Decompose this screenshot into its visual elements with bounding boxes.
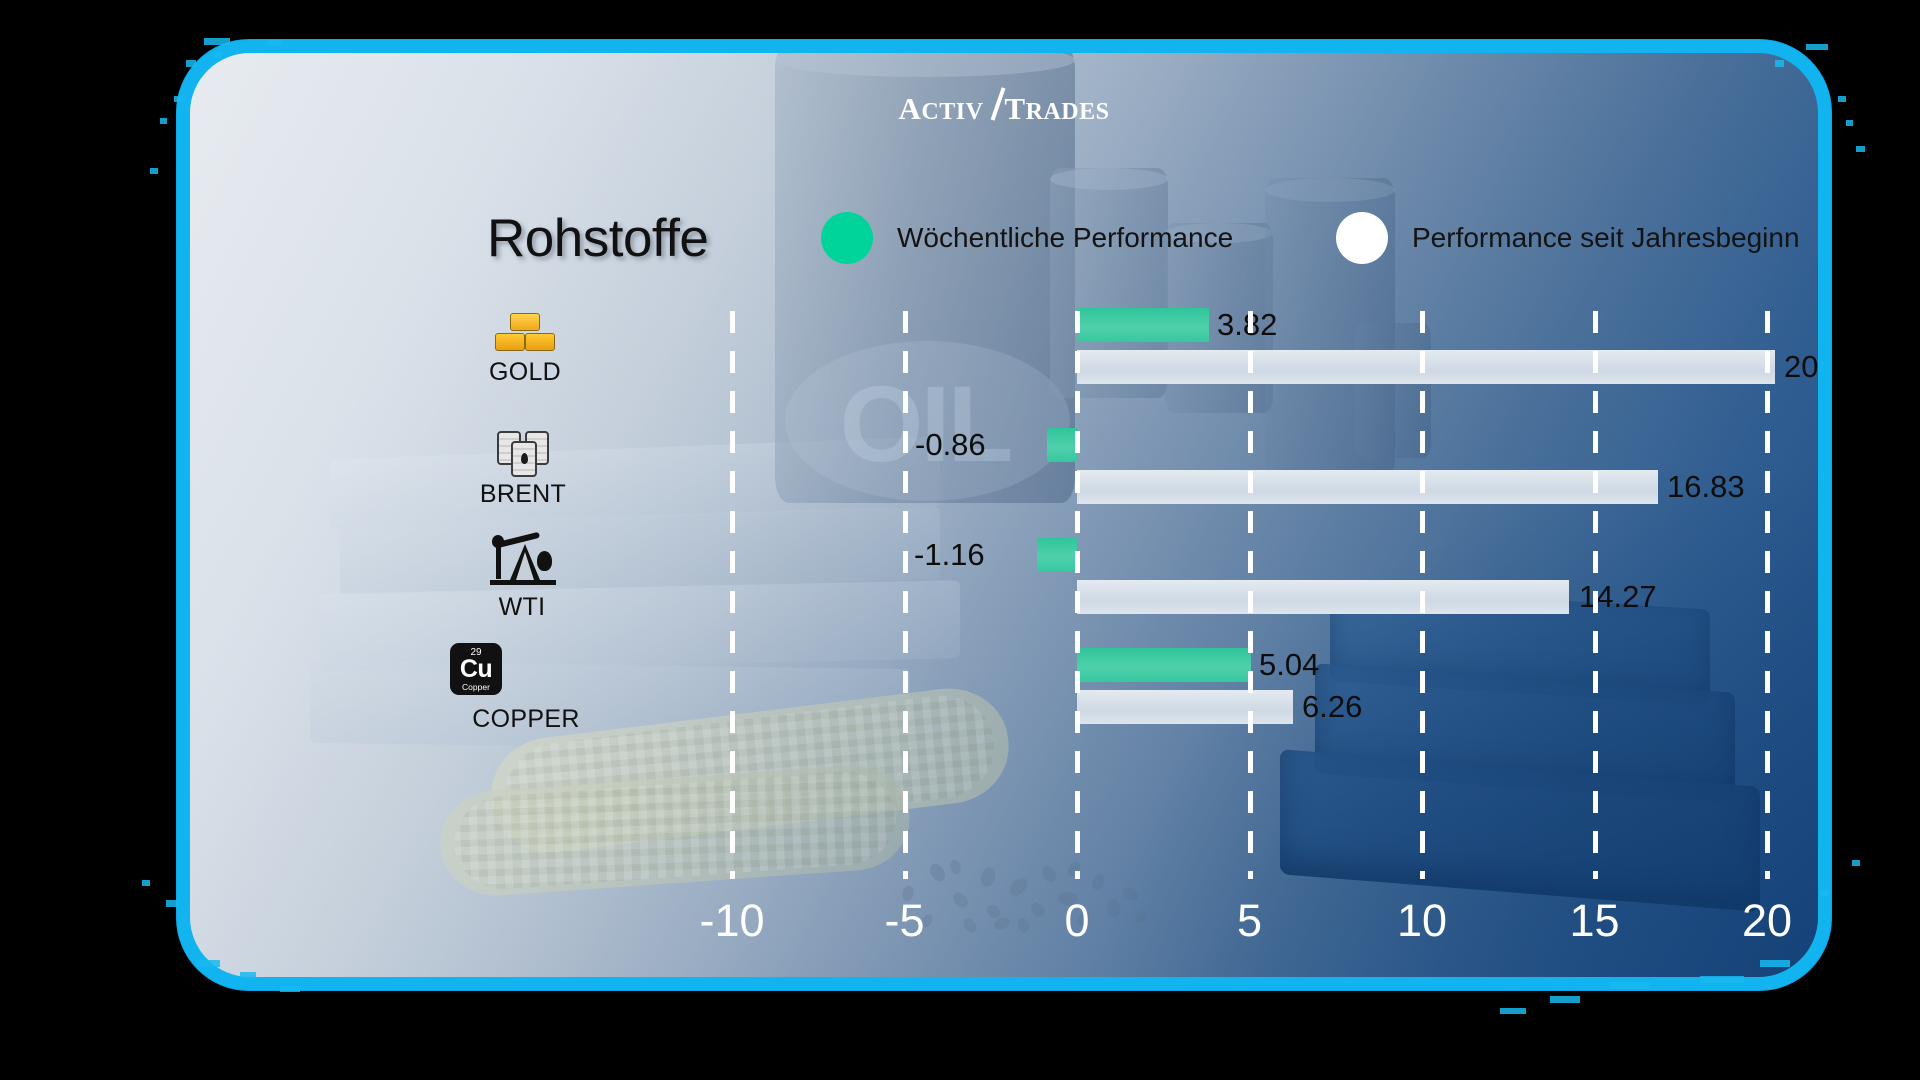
copper-symbol: Cu bbox=[460, 657, 492, 682]
screenshot-root: OIL ACTIVTRADES Rohstoffe Wö bbox=[0, 0, 1920, 1080]
compression-artifact bbox=[174, 96, 183, 102]
page-title: Rohstoffe bbox=[487, 208, 708, 269]
compression-artifact bbox=[214, 52, 222, 58]
compression-artifact bbox=[1846, 120, 1853, 126]
compression-artifact bbox=[1610, 982, 1650, 989]
legend-label-weekly: Wöchentliche Performance bbox=[897, 222, 1233, 254]
x-tick-label: 5 bbox=[1237, 895, 1262, 947]
legend-dot-ytd-icon bbox=[1336, 212, 1388, 264]
chart-plot-area: GOLD 3.82 20.24 BRENT -0.86 bbox=[490, 303, 1818, 883]
bar-value-copper-weekly: 5.04 bbox=[1259, 648, 1319, 682]
legend-item-ytd: Performance seit Jahresbeginn bbox=[1336, 212, 1800, 264]
compression-artifact bbox=[1806, 44, 1828, 50]
x-tick-label: 20 bbox=[1742, 895, 1792, 947]
oil-drums-icon bbox=[448, 427, 598, 484]
bar-brent-ytd bbox=[1077, 470, 1658, 504]
bar-value-wti-weekly: -1.16 bbox=[914, 538, 985, 572]
gridline-15 bbox=[1593, 311, 1598, 879]
x-tick-label: 15 bbox=[1569, 895, 1619, 947]
x-tick-label: -5 bbox=[884, 895, 924, 947]
compression-artifact bbox=[1760, 960, 1790, 967]
compression-artifact bbox=[160, 118, 167, 124]
infographic-panel: OIL ACTIVTRADES Rohstoffe Wö bbox=[190, 53, 1818, 977]
row-label-brent: BRENT bbox=[408, 480, 638, 509]
copper-element-icon: 29 Cu Copper bbox=[450, 643, 600, 695]
row-label-gold: GOLD bbox=[410, 358, 640, 387]
x-axis-title: % Prozentuale Performance bbox=[791, 973, 1216, 977]
compression-artifact bbox=[186, 60, 196, 67]
gold-bars-icon bbox=[450, 311, 600, 362]
bar-gold-ytd bbox=[1077, 350, 1775, 384]
bar-wti-weekly bbox=[1037, 538, 1077, 572]
gridline-10 bbox=[1420, 311, 1425, 879]
logo-slash-icon bbox=[986, 89, 1003, 119]
logo-a: A bbox=[899, 91, 922, 127]
row-label-copper: COPPER bbox=[411, 705, 641, 734]
cyan-rounded-frame: OIL ACTIVTRADES Rohstoffe Wö bbox=[177, 40, 1831, 990]
bar-copper-ytd bbox=[1077, 690, 1293, 724]
compression-artifact bbox=[196, 960, 220, 967]
bar-wti-ytd bbox=[1077, 580, 1569, 614]
compression-artifact bbox=[240, 972, 256, 978]
compression-artifact bbox=[1500, 1008, 1526, 1014]
compression-artifact bbox=[1856, 146, 1865, 152]
bar-gold-weekly bbox=[1077, 308, 1209, 342]
gridline-neg10 bbox=[730, 311, 735, 879]
compression-artifact bbox=[1838, 96, 1846, 102]
bar-copper-weekly bbox=[1077, 648, 1251, 682]
compression-artifact bbox=[1700, 976, 1744, 983]
logo-rades: RADES bbox=[1026, 99, 1110, 126]
bar-value-brent-weekly: -0.86 bbox=[915, 428, 986, 462]
compression-artifact bbox=[1550, 996, 1580, 1003]
gridline-neg5 bbox=[903, 311, 908, 879]
logo-ctiv: CTIV bbox=[921, 99, 983, 126]
compression-artifact bbox=[142, 880, 150, 886]
bar-value-wti-ytd: 14.27 bbox=[1579, 580, 1657, 614]
bar-value-brent-ytd: 16.83 bbox=[1667, 470, 1745, 504]
row-label-wti: WTI bbox=[407, 593, 637, 622]
logo-t: T bbox=[1004, 91, 1025, 127]
gridline-5 bbox=[1248, 311, 1253, 879]
x-tick-label: -10 bbox=[699, 895, 764, 947]
compression-artifact bbox=[280, 986, 300, 992]
compression-artifact bbox=[1775, 60, 1784, 67]
pump-jack-icon bbox=[448, 533, 598, 592]
bar-value-gold-ytd: 20.24 bbox=[1784, 350, 1818, 384]
bar-brent-weekly bbox=[1047, 428, 1077, 462]
legend-label-ytd: Performance seit Jahresbeginn bbox=[1412, 222, 1800, 254]
legend-dot-weekly-icon bbox=[821, 212, 873, 264]
gridline-20 bbox=[1765, 311, 1770, 879]
gridline-0 bbox=[1075, 311, 1080, 879]
activtrades-logo: ACTIVTRADES bbox=[899, 89, 1110, 127]
compression-artifact bbox=[204, 38, 230, 45]
x-tick-label: 0 bbox=[1064, 895, 1089, 947]
legend-item-weekly: Wöchentliche Performance bbox=[821, 212, 1233, 264]
copper-name: Copper bbox=[462, 683, 490, 692]
bar-value-copper-ytd: 6.26 bbox=[1302, 690, 1362, 724]
compression-artifact bbox=[166, 900, 178, 907]
compression-artifact bbox=[268, 40, 282, 46]
compression-artifact bbox=[1852, 860, 1860, 866]
x-tick-label: 10 bbox=[1397, 895, 1447, 947]
compression-artifact bbox=[150, 168, 158, 174]
compression-artifact bbox=[1820, 890, 1829, 896]
